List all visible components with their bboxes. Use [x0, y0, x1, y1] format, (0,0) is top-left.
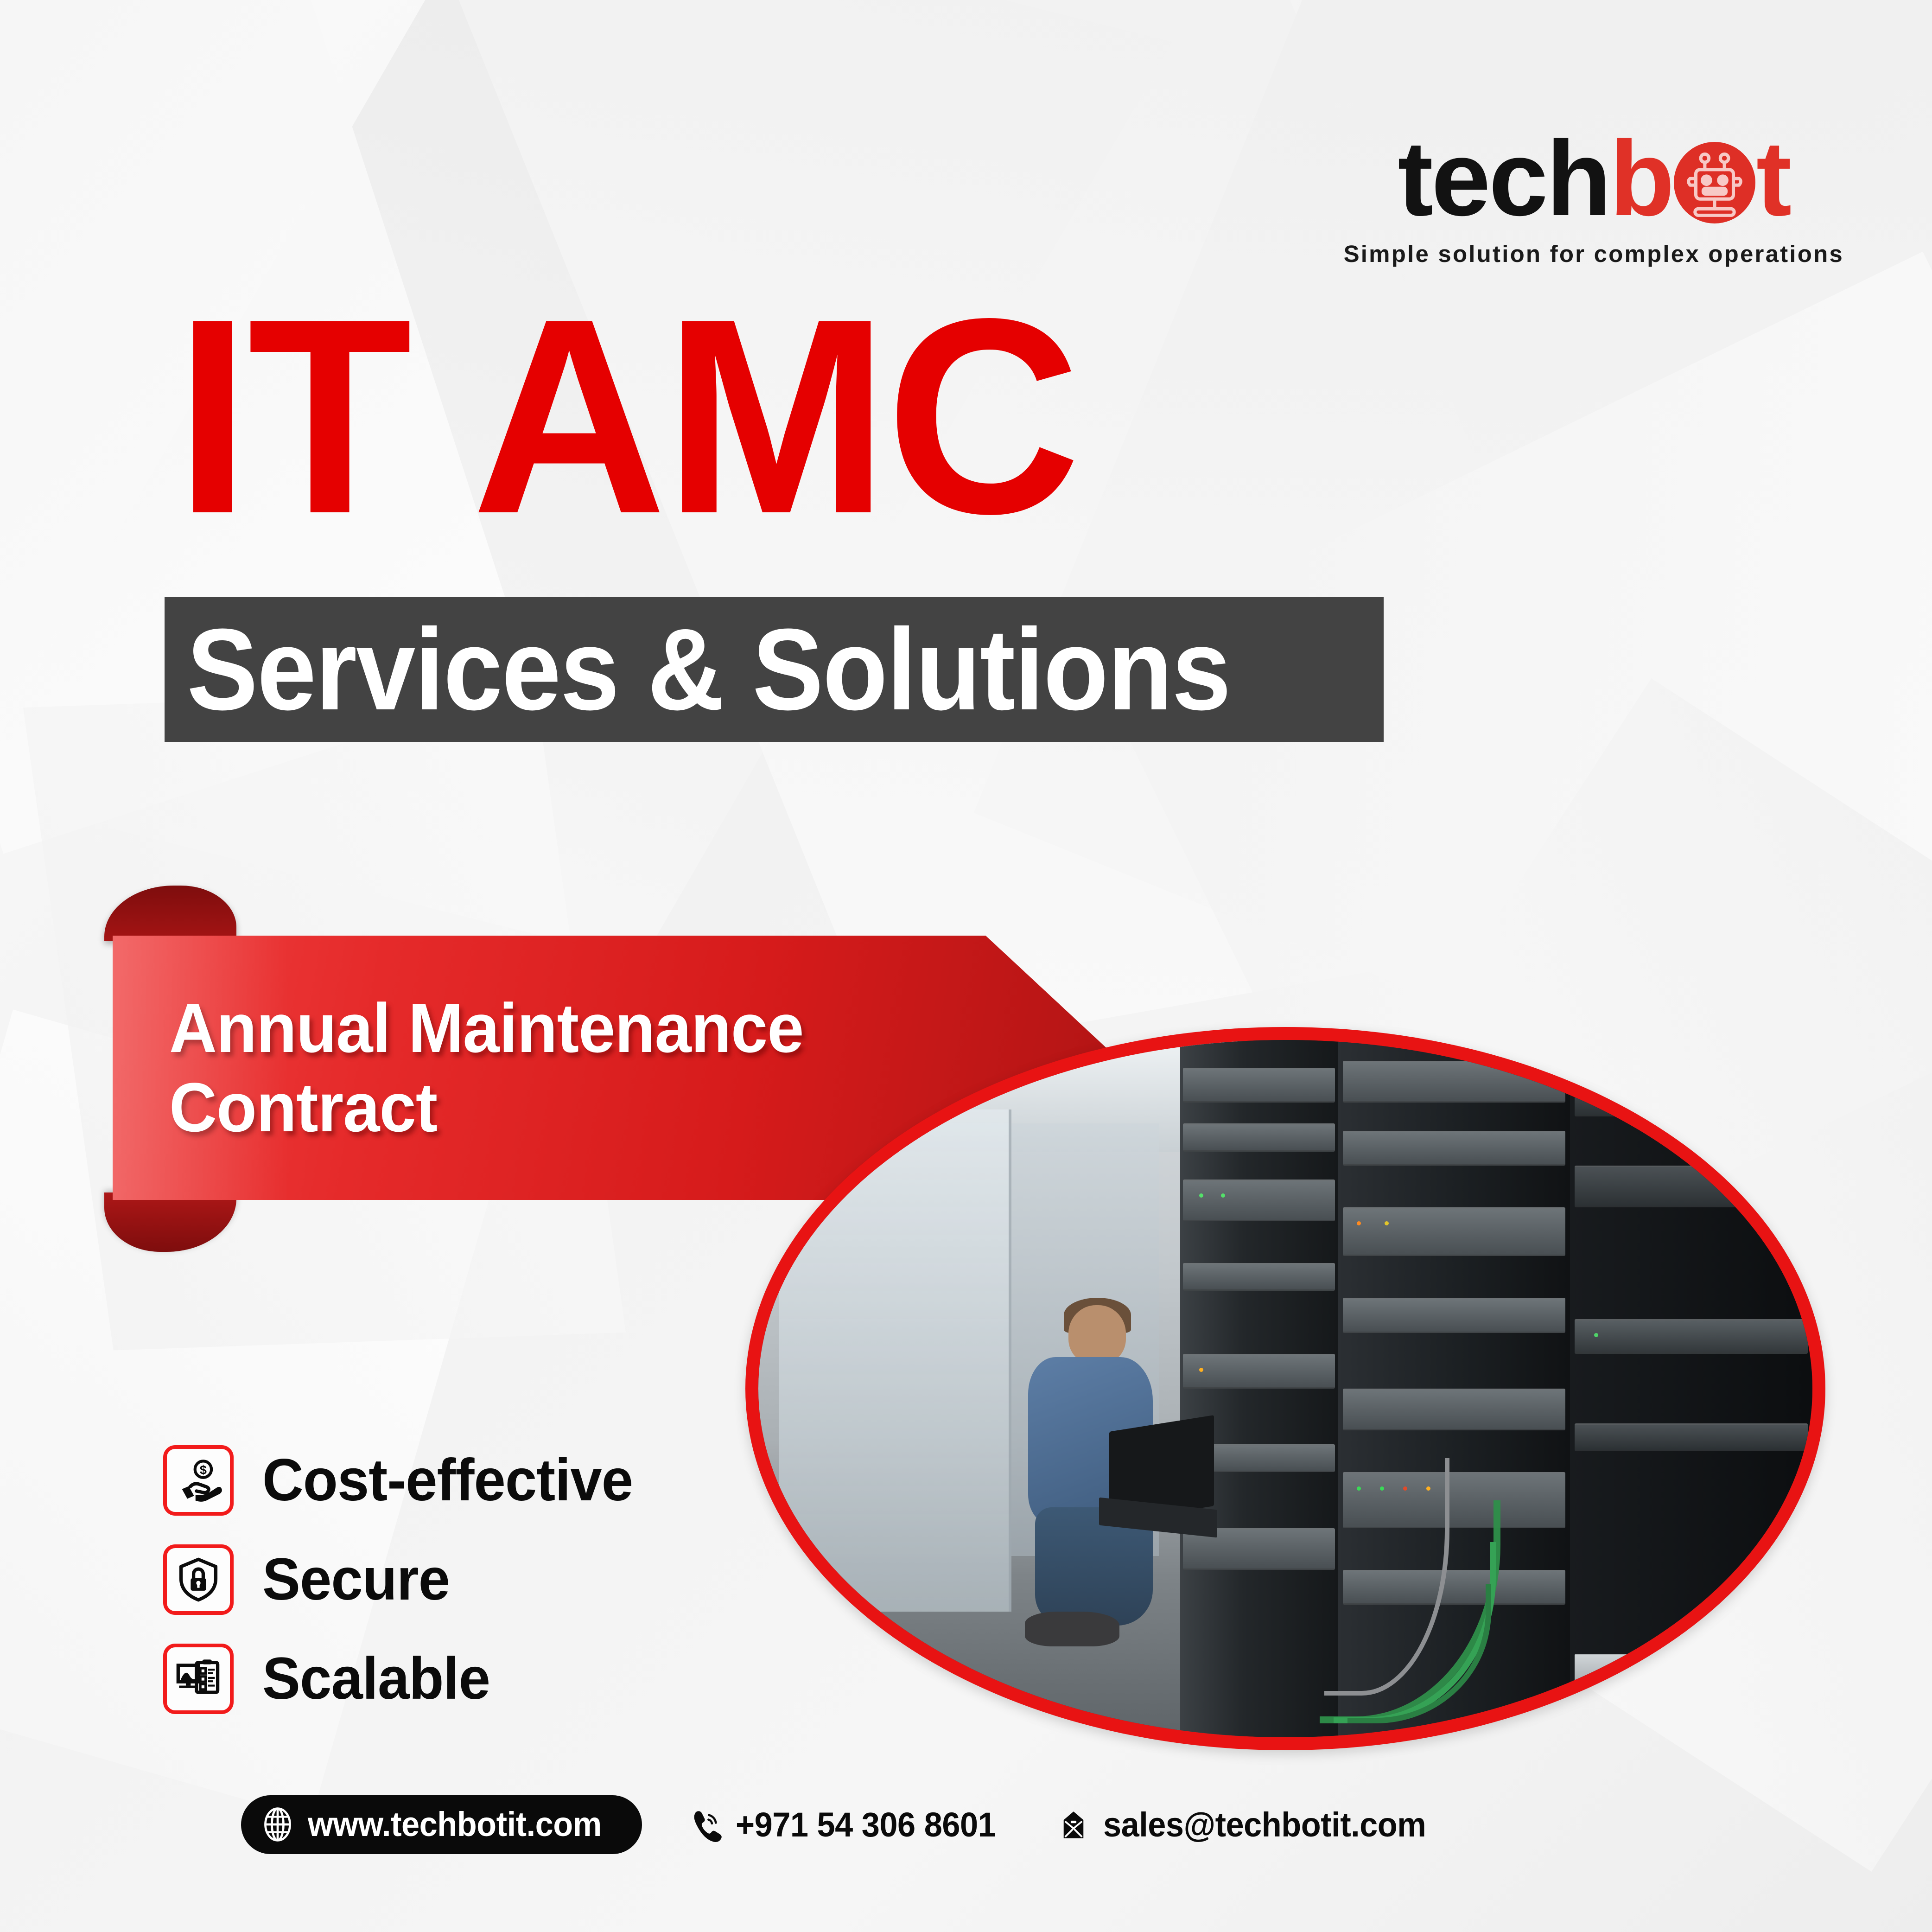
- envelope-icon: [1056, 1807, 1091, 1843]
- phone-contact[interactable]: +971 54 306 8601: [688, 1805, 1010, 1844]
- photo-scene: [758, 1040, 1812, 1737]
- feature-label: Scalable: [262, 1649, 490, 1709]
- feature-list: $ Cost-effective Secure: [163, 1435, 648, 1733]
- ribbon-label: Annual Maintenance Contract: [169, 988, 804, 1147]
- ribbon-tail-top: [104, 886, 236, 941]
- ribbon-tail-bottom: [104, 1192, 236, 1252]
- website-text: www.techbotit.com: [308, 1804, 602, 1844]
- feature-label: Secure: [262, 1550, 450, 1609]
- email-text: sales@techbotit.com: [1103, 1805, 1426, 1844]
- monitor-checklist-icon: [163, 1644, 234, 1714]
- page-title: IT AMC: [175, 297, 1078, 536]
- logo-tagline: Simple solution for complex operations: [1344, 240, 1844, 268]
- list-item: Secure: [163, 1534, 648, 1625]
- shield-lock-icon: [163, 1544, 234, 1615]
- svg-text:$: $: [200, 1463, 207, 1477]
- subtitle-band: Services & Solutions: [165, 597, 1384, 742]
- server-rack: [1338, 1040, 1570, 1737]
- globe-icon: [260, 1806, 296, 1843]
- server-room-photo: [745, 1027, 1825, 1750]
- logo-text-tech: tech: [1398, 119, 1609, 238]
- email-contact[interactable]: sales@techbotit.com: [1056, 1805, 1443, 1844]
- logo-text-t: t: [1756, 119, 1790, 238]
- phone-icon: [688, 1807, 724, 1843]
- logo-wordmark: techbt: [1344, 125, 1844, 232]
- phone-text: +971 54 306 8601: [736, 1805, 996, 1844]
- logo-text-b: b: [1609, 119, 1673, 238]
- list-item: $ Cost-effective: [163, 1435, 648, 1526]
- robot-icon: [1674, 142, 1755, 223]
- server-rack: [1570, 1040, 1812, 1737]
- server-rack: [1180, 1040, 1338, 1737]
- hand-holding-money-icon: $: [163, 1445, 234, 1516]
- footer-contact-bar: www.techbotit.com +971 54 306 8601: [241, 1795, 1443, 1854]
- technician-figure: [1011, 1305, 1180, 1654]
- brand-logo[interactable]: techbt Simple solution for complex opera…: [1344, 125, 1844, 268]
- scene-glass-wall: [779, 1109, 1011, 1612]
- website-link[interactable]: www.techbotit.com: [241, 1795, 642, 1854]
- list-item: Scalable: [163, 1633, 648, 1724]
- feature-label: Cost-effective: [262, 1451, 633, 1510]
- page-subtitle: Services & Solutions: [187, 612, 1230, 727]
- poster-canvas: techbt Simple solution for complex opera…: [0, 0, 1932, 1932]
